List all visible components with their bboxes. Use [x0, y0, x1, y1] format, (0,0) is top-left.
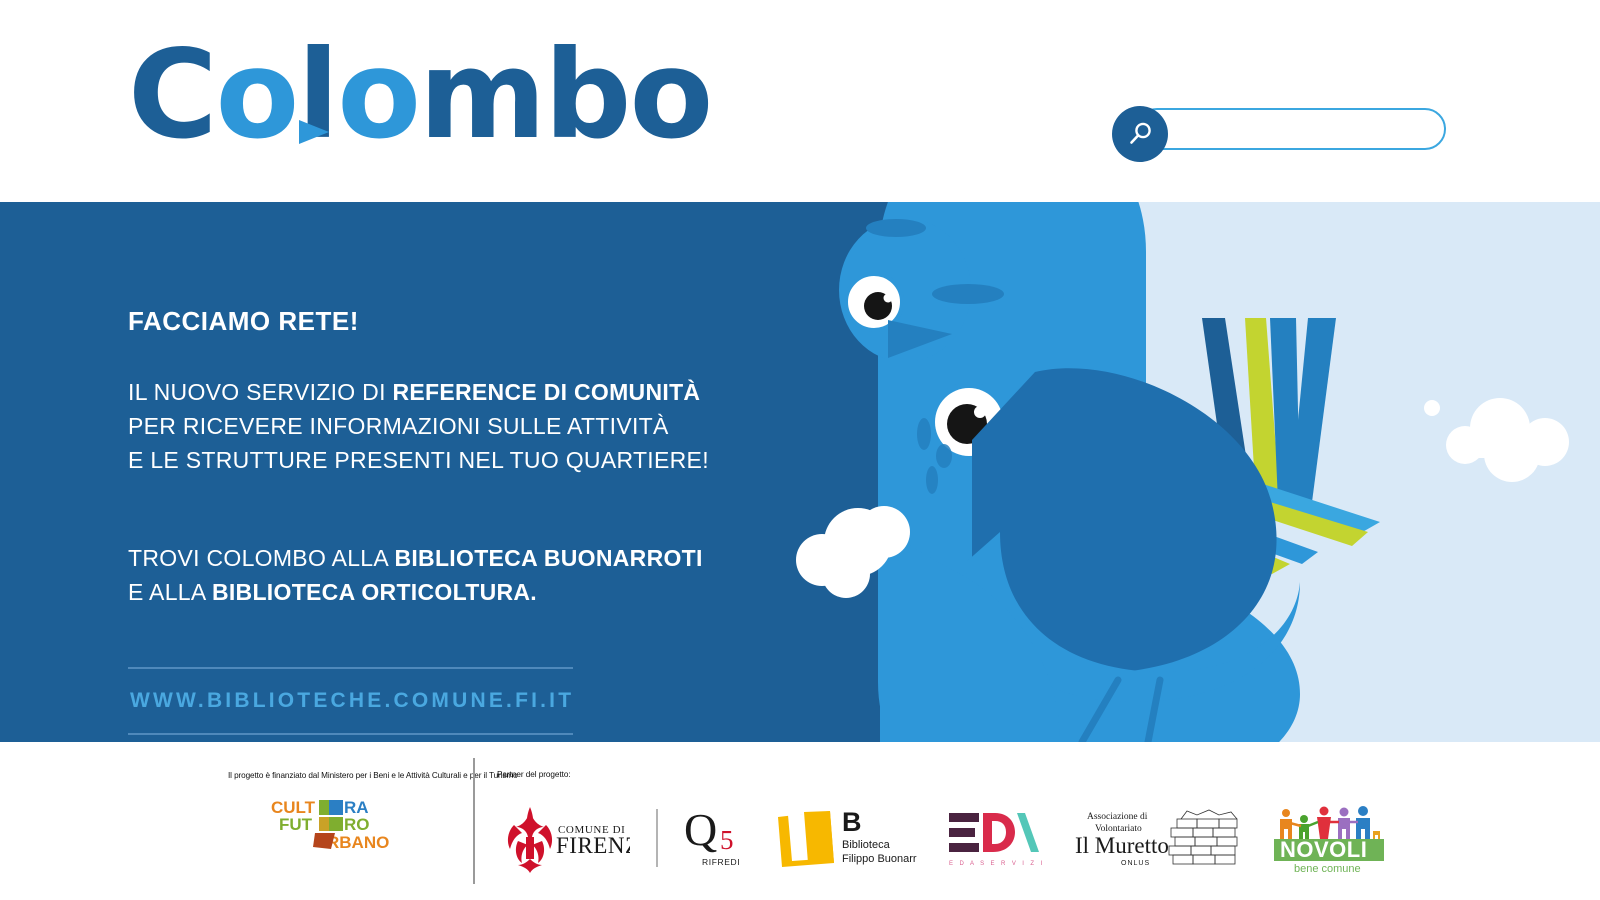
p1-line2: PER RICEVERE INFORMAZIONI SULLE ATTIVITÀ	[128, 413, 669, 439]
partner-eda-servizi[interactable]: E D A S E R V I Z I	[943, 801, 1043, 875]
cfu-fut-text: FUT	[279, 815, 313, 834]
paragraph-2: TROVI COLOMBO ALLA BIBLIOTECA BUONARROTI…	[128, 541, 748, 609]
site-link-block: WWW.BIBLIOTECHE.COMUNE.FI.IT	[128, 667, 573, 735]
search-button[interactable]	[1112, 106, 1168, 162]
footer-divider	[473, 758, 475, 884]
colombo-logo[interactable]: Colombo	[128, 30, 711, 160]
logo-letter-c: C	[128, 24, 216, 166]
banner-copy: FACCIAMO RETE! IL NUOVO SERVIZIO DI REFE…	[128, 306, 748, 735]
logo-letter-o2: o	[337, 24, 419, 166]
partner-novoli-bene-comune[interactable]: NOVOLI bene comune	[1270, 801, 1385, 875]
partner-biblioteca-buonarroti[interactable]: B Biblioteca Filippo Buonarroti	[772, 801, 917, 875]
buonarroti-initial: B	[842, 807, 862, 837]
beak-icon	[299, 120, 329, 144]
muretto-line4: ONLUS	[1121, 860, 1150, 867]
people-holding-hands-icon	[1280, 806, 1380, 839]
search-icon	[1125, 119, 1155, 149]
rule-bottom	[128, 733, 573, 735]
firenze-line2: FIRENZE	[556, 833, 630, 858]
p2-lead-2: E ALLA	[128, 579, 212, 605]
eyebrow-left-icon	[866, 219, 926, 237]
buonarroti-line2: Filippo Buonarroti	[842, 853, 917, 865]
partner-il-muretto[interactable]: Associazione di Volontariato Il Muretto …	[1069, 801, 1244, 875]
funding-block: Il progetto è finanziato dal Ministero p…	[228, 770, 460, 853]
partner-caption: Partner del progetto:	[497, 770, 571, 779]
cultura-futuro-urbano-logo[interactable]: CULT FUT RA RO RBANO	[228, 795, 460, 853]
search-bar[interactable]	[1112, 106, 1448, 154]
novoli-wordmark: NOVOLI	[1280, 837, 1367, 862]
hero-banner: FACCIAMO RETE! IL NUOVO SERVIZIO DI REFE…	[0, 202, 1600, 742]
page-root: Colombo	[0, 0, 1600, 900]
p2-bold-2: BIBLIOTECA ORTICOLTURA.	[212, 579, 537, 605]
novoli-tagline: bene comune	[1294, 863, 1361, 875]
eyebrow-right-icon	[932, 284, 1004, 304]
eda-servizi-label: E D A S E R V I Z I	[949, 861, 1043, 867]
cfu-ro-text: RO	[344, 815, 370, 834]
cloud-group-right	[1424, 398, 1569, 482]
p1-lead: IL NUOVO SERVIZIO DI	[128, 379, 392, 405]
q5-label-rifredi: RIFREDI	[702, 857, 740, 867]
giglio-fleur-de-lis-icon	[508, 807, 552, 873]
search-input[interactable]	[1136, 108, 1446, 150]
logo-letter-o3: o	[630, 24, 712, 166]
q5-letter-q: Q	[684, 804, 717, 855]
q5-number-5: 5	[720, 825, 734, 855]
paragraph-1: IL NUOVO SERVIZIO DI REFERENCE DI COMUNI…	[128, 375, 748, 477]
partner-quartiere-5-rifredi[interactable]: Q 5 RIFREDI	[684, 801, 746, 875]
open-book-icon	[778, 811, 834, 867]
logo-letter-m: m	[419, 24, 544, 166]
eda-mark-icon	[949, 813, 1039, 852]
partner-comune-di-firenze[interactable]: COMUNE DI FIRENZE	[500, 801, 630, 875]
partner-logos: COMUNE DI FIRENZE Q 5 RIFREDI	[500, 790, 1385, 886]
logo-letter-b: b	[544, 24, 629, 166]
logo-letter-l: l	[297, 30, 337, 160]
funding-caption: Il progetto è finanziato dal Ministero p…	[228, 770, 460, 781]
p1-line3: E LE STRUTTURE PRESENTI NEL TUO QUARTIER…	[128, 447, 709, 473]
partner-separator	[656, 809, 658, 867]
p2-bold-1: BIBLIOTECA BUONARROTI	[394, 545, 702, 571]
muretto-line1: Associazione di	[1087, 812, 1148, 822]
site-footer: Il progetto è finanziato dal Ministero p…	[0, 742, 1600, 900]
site-link[interactable]: WWW.BIBLIOTECHE.COMUNE.FI.IT	[128, 669, 573, 733]
cfu-rbano-text: RBANO	[327, 833, 389, 852]
muretto-line3: Il Muretto	[1075, 833, 1169, 858]
buonarroti-line1: Biblioteca	[842, 839, 891, 851]
p2-lead: TROVI COLOMBO ALLA	[128, 545, 394, 571]
headline: FACCIAMO RETE!	[128, 306, 748, 337]
brick-wall-icon	[1169, 810, 1237, 864]
p1-emphasis: REFERENCE DI COMUNITÀ	[392, 379, 700, 405]
logo-letter-o1: o	[216, 24, 298, 166]
site-header: Colombo	[0, 0, 1600, 202]
